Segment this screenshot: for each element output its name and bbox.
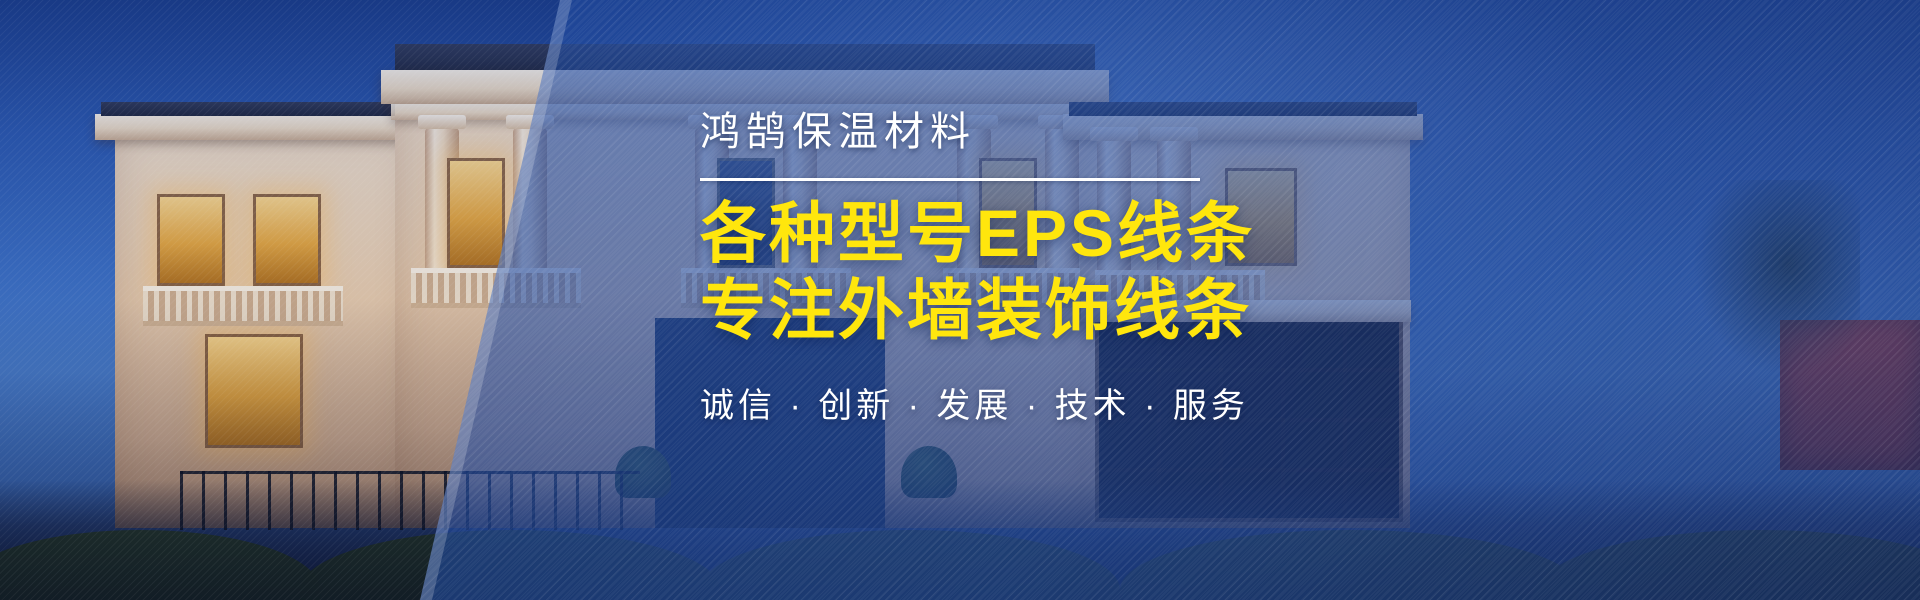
headline-line-2: 专注外墙装饰线条 — [700, 272, 1420, 349]
window-lit — [205, 334, 303, 448]
balustrade — [143, 286, 343, 326]
window-lit — [253, 194, 321, 286]
brand-name: 鸿鹄保温材料 — [700, 112, 1420, 152]
left-wing — [115, 128, 415, 528]
window-lit — [157, 194, 225, 286]
left-wing-cornice — [95, 114, 435, 140]
tagline: 诚信 · 创新 · 发展 · 技术 · 服务 — [700, 378, 1420, 427]
headline-line-1: 各种型号EPS线条 — [700, 195, 1420, 272]
promotional-banner: 鸿鹄保温材料 各种型号EPS线条 专注外墙装饰线条 诚信 · 创新 · 发展 ·… — [0, 0, 1920, 600]
window-lit — [447, 158, 505, 268]
divider-rule — [700, 178, 1200, 181]
left-wing-roof — [101, 102, 431, 116]
banner-copy: 鸿鹄保温材料 各种型号EPS线条 专注外墙装饰线条 诚信 · 创新 · 发展 ·… — [700, 112, 1420, 427]
